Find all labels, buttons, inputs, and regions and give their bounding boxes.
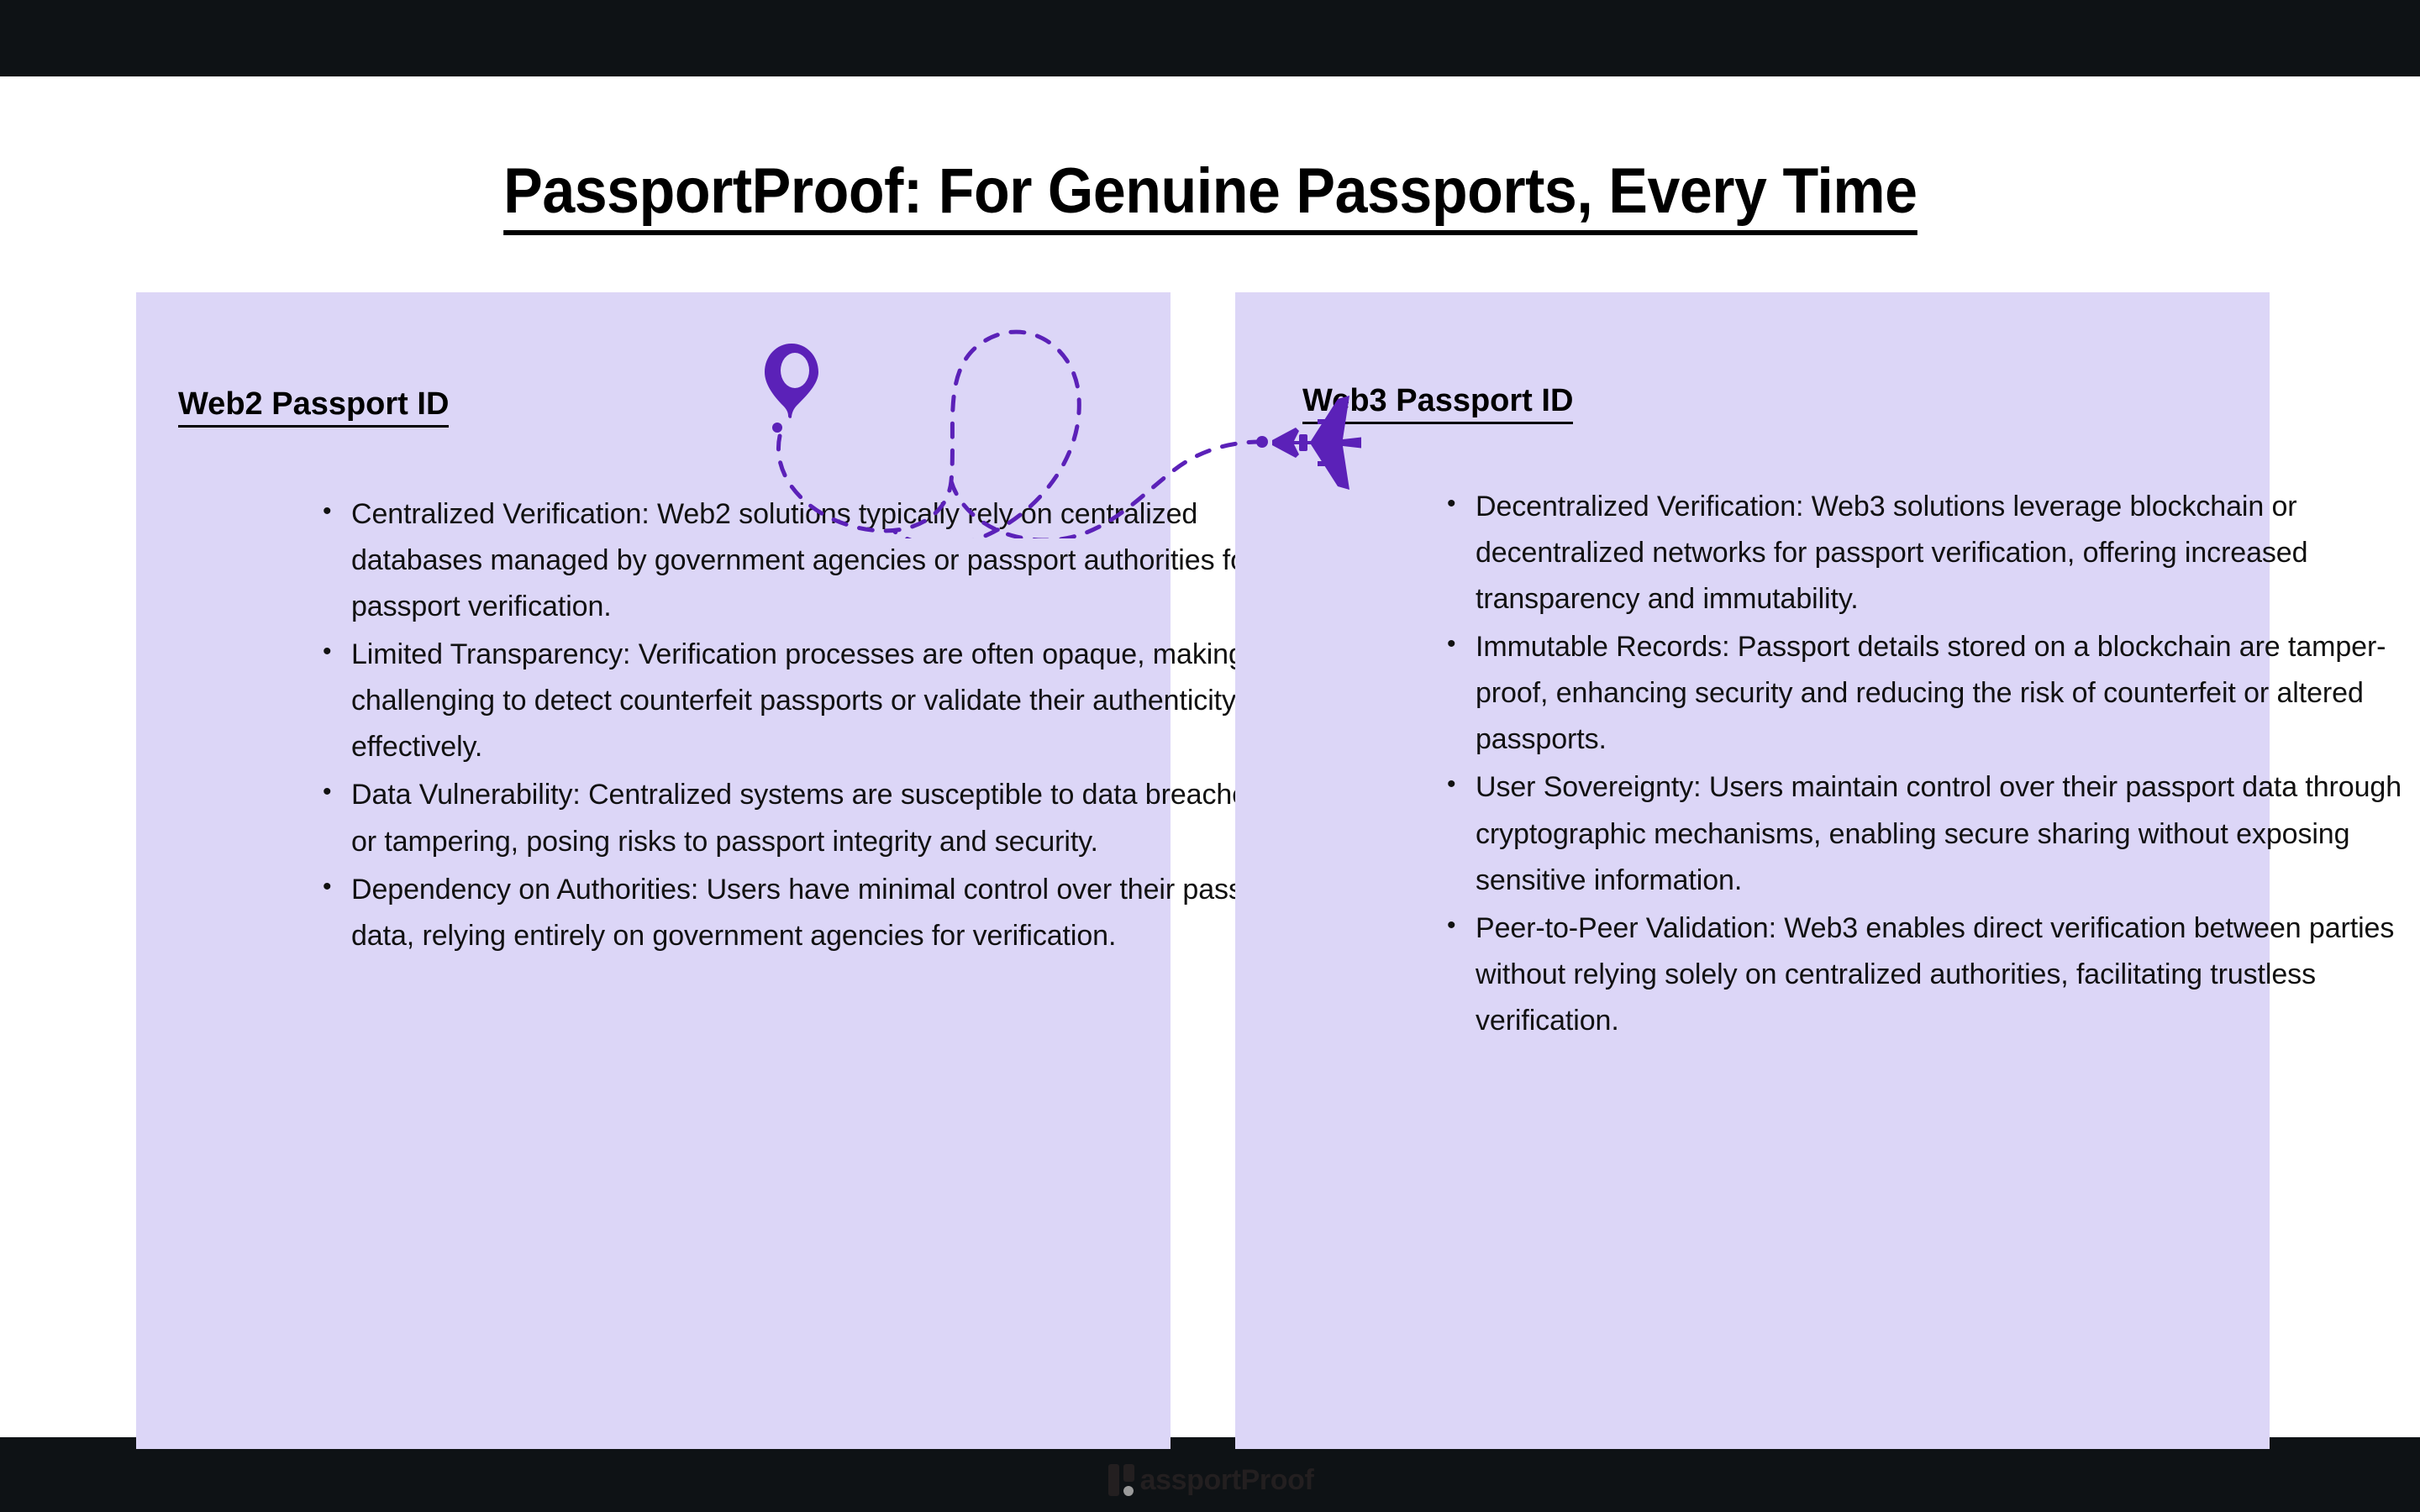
list-item: Dependency on Authorities: Users have mi… — [351, 867, 1292, 959]
list-item: Peer-to-Peer Validation: Web3 enables di… — [1476, 906, 2408, 1044]
list-item: Centralized Verification: Web2 solutions… — [351, 491, 1292, 630]
page-title: PassportProof: For Genuine Passports, Ev… — [0, 155, 2420, 235]
logo-bar-shape — [1108, 1464, 1119, 1496]
footer-logo: assportProof — [0, 1462, 2420, 1498]
logo-block-shape — [1123, 1464, 1134, 1482]
panel-web3-heading-text: Web3 Passport ID — [1302, 383, 1573, 424]
panel-web2-bullet-list: Centralized Verification: Web2 solutions… — [313, 491, 1292, 961]
list-item: Decentralized Verification: Web3 solutio… — [1476, 484, 2408, 622]
panel-web2-heading-text: Web2 Passport ID — [178, 386, 449, 428]
panel-web3-bullet-list: Decentralized Verification: Web3 solutio… — [1437, 484, 2408, 1046]
list-item: Immutable Records: Passport details stor… — [1476, 624, 2408, 763]
panel-web3: Web3 Passport ID Decentralized Verificat… — [1235, 292, 2270, 1449]
list-item: Limited Transparency: Verification proce… — [351, 632, 1292, 770]
panel-web2-heading: Web2 Passport ID — [178, 386, 449, 428]
panel-web2: Web2 Passport ID Centralized Verificatio… — [136, 292, 1171, 1449]
list-item: Data Vulnerability: Centralized systems … — [351, 772, 1292, 864]
top-letterbox-bar — [0, 0, 2420, 76]
list-item: User Sovereignty: Users maintain control… — [1476, 764, 2408, 903]
slide-canvas: PassportProof: For Genuine Passports, Ev… — [0, 76, 2420, 1437]
footer-logo-text: assportProof — [1140, 1464, 1314, 1497]
logo-dot-shape — [1123, 1486, 1134, 1496]
passportproof-logo-mark-icon — [1107, 1462, 1137, 1498]
page-title-text: PassportProof: For Genuine Passports, Ev… — [503, 158, 1917, 235]
panel-web3-heading: Web3 Passport ID — [1302, 383, 1573, 424]
